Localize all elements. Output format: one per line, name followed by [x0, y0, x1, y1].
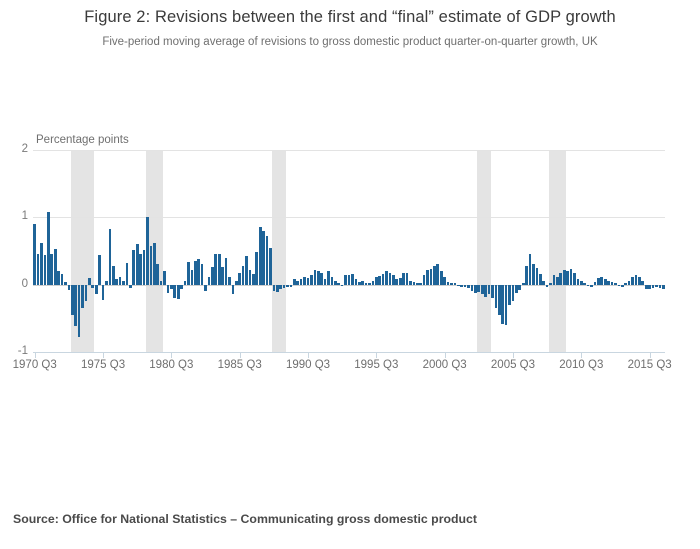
chart-subtitle: Five-period moving average of revisions … [0, 36, 700, 48]
bar [406, 273, 409, 284]
bar [525, 266, 528, 285]
bar [293, 279, 296, 284]
bar [512, 285, 515, 301]
bar [645, 285, 648, 289]
source-note: Source: Office for National Statistics –… [13, 512, 477, 526]
bar [365, 283, 368, 285]
bar [611, 282, 614, 285]
bar [491, 285, 494, 298]
x-axis-tick-mark [240, 352, 241, 358]
bar [37, 254, 40, 284]
bar [337, 283, 340, 285]
bar [539, 274, 542, 285]
bar [536, 268, 539, 285]
bar [594, 282, 597, 285]
bar [211, 267, 214, 285]
bar [546, 285, 549, 287]
bar [47, 212, 50, 285]
bar [85, 285, 88, 302]
bar [631, 277, 634, 284]
bar [389, 273, 392, 285]
bar [597, 278, 600, 285]
bar [618, 285, 621, 286]
x-axis-tick-label: 2010 Q3 [559, 359, 603, 371]
figure-container: Figure 2: Revisions between the first an… [0, 0, 700, 549]
bar [156, 264, 159, 284]
chart-plot-area [33, 150, 665, 352]
bar [279, 285, 282, 289]
bar [235, 281, 238, 285]
bar [587, 285, 590, 286]
bar [498, 285, 501, 315]
bar [392, 275, 395, 285]
bar [300, 279, 303, 285]
bar [471, 285, 474, 291]
bar [88, 278, 91, 285]
bar [61, 274, 64, 285]
x-axis-tick-mark [445, 352, 446, 358]
bar [115, 279, 118, 284]
bar [600, 277, 603, 285]
recession-band-5 [549, 150, 566, 352]
bar [262, 231, 265, 285]
bar [78, 285, 81, 338]
bar [607, 281, 610, 285]
gridline-1 [33, 217, 665, 218]
bar [553, 275, 556, 284]
bar [273, 285, 276, 292]
gridline--1 [33, 352, 665, 353]
bar [580, 281, 583, 284]
bar [477, 285, 480, 292]
y-axis-tick-label: 2 [4, 144, 28, 156]
bar [105, 281, 108, 284]
x-axis-tick-mark [35, 352, 36, 358]
y-axis-unit-label: Percentage points [36, 134, 129, 146]
bar [160, 281, 163, 284]
bar [91, 285, 94, 288]
bar [269, 248, 272, 285]
bar [68, 285, 71, 290]
bar [495, 285, 498, 309]
bar [361, 281, 364, 284]
bar [416, 283, 419, 285]
bar [143, 250, 146, 285]
bar [324, 279, 327, 285]
bar [372, 281, 375, 284]
bar [573, 273, 576, 285]
bar [173, 285, 176, 298]
bar [351, 274, 354, 285]
bar [382, 274, 385, 285]
bar [191, 270, 194, 285]
bar [508, 285, 511, 305]
bar [385, 271, 388, 284]
bar [187, 262, 190, 285]
bar [450, 283, 453, 284]
bar [467, 285, 470, 288]
bar [201, 264, 204, 284]
bar [341, 285, 344, 286]
bar [249, 270, 252, 285]
x-axis-tick-label: 1990 Q3 [286, 359, 330, 371]
bar [413, 282, 416, 285]
bar [259, 227, 262, 284]
bar [522, 283, 525, 284]
bar [652, 285, 655, 288]
x-axis-tick-mark [171, 352, 172, 358]
bar [44, 255, 47, 285]
bar [290, 285, 293, 287]
bar [50, 254, 53, 284]
bar [515, 285, 518, 293]
bar [276, 285, 279, 292]
x-axis-tick-mark [581, 352, 582, 358]
bar [556, 277, 559, 285]
gridline-0 [33, 285, 665, 286]
bar [122, 281, 125, 284]
bar [112, 266, 115, 284]
bar [430, 269, 433, 285]
x-axis-tick-label: 2000 Q3 [423, 359, 467, 371]
bar [232, 285, 235, 294]
bar [433, 266, 436, 285]
bar [184, 281, 187, 285]
bar [255, 252, 258, 284]
bar [426, 270, 429, 285]
bar [74, 285, 77, 327]
x-axis-tick-mark [308, 352, 309, 358]
bar [399, 278, 402, 285]
bar [266, 236, 269, 284]
bar [208, 277, 211, 285]
bar [252, 274, 255, 285]
x-axis-tick-mark [103, 352, 104, 358]
recession-band-4 [477, 150, 491, 352]
bar [423, 275, 426, 284]
bar [286, 285, 289, 288]
bar [563, 270, 566, 285]
bar [153, 243, 156, 285]
bar [109, 229, 112, 285]
bar [71, 285, 74, 315]
bar [440, 271, 443, 284]
bar [570, 269, 573, 285]
bar [549, 283, 552, 284]
x-axis-tick-label: 1970 Q3 [13, 359, 57, 371]
x-axis-tick-mark [650, 352, 651, 358]
bar [228, 277, 231, 285]
bar [655, 285, 658, 288]
bar [375, 277, 378, 285]
bar [310, 275, 313, 285]
bar [204, 285, 207, 292]
bar [532, 264, 535, 284]
bar [474, 285, 477, 293]
x-axis-tick-label: 2005 Q3 [491, 359, 535, 371]
bar [64, 282, 67, 285]
bar [368, 283, 371, 284]
bar [355, 279, 358, 284]
bar [624, 283, 627, 284]
bar [501, 285, 504, 324]
bar [662, 285, 665, 289]
x-axis-tick-label: 1980 Q3 [149, 359, 193, 371]
bar [577, 279, 580, 285]
bar [225, 258, 228, 285]
x-axis-tick-mark [376, 352, 377, 358]
bar [590, 285, 593, 287]
bar [40, 243, 43, 285]
bar [583, 283, 586, 284]
bar [54, 249, 57, 285]
bar [447, 282, 450, 285]
page-title: Figure 2: Revisions between the first an… [0, 8, 700, 27]
bar [327, 271, 330, 284]
bar [436, 264, 439, 284]
bar [628, 281, 631, 285]
bar [464, 285, 467, 287]
bar [419, 283, 422, 284]
recession-band-3 [272, 150, 286, 352]
bar [303, 277, 306, 285]
bar [129, 285, 132, 288]
bar [460, 285, 463, 288]
gridline-2 [33, 150, 665, 151]
bar [102, 285, 105, 300]
bar [170, 285, 173, 289]
bar [505, 285, 508, 325]
bar [320, 273, 323, 284]
bar [296, 281, 299, 285]
bar [457, 285, 460, 286]
bar [139, 254, 142, 284]
bar [542, 281, 545, 284]
bar [177, 285, 180, 300]
bar [454, 283, 457, 285]
bar [659, 285, 662, 288]
bar [180, 285, 183, 289]
bar [307, 278, 310, 285]
bar [197, 259, 200, 285]
bar [146, 217, 149, 284]
bar [358, 282, 361, 285]
bar [136, 244, 139, 284]
bar [402, 273, 405, 285]
bar [566, 271, 569, 284]
bar [641, 281, 644, 284]
bar [559, 273, 562, 285]
x-axis-tick-mark [513, 352, 514, 358]
bar [334, 281, 337, 285]
bar [132, 250, 135, 285]
bar [163, 271, 166, 284]
x-axis-tick-label: 2015 Q3 [628, 359, 672, 371]
bar [621, 285, 624, 288]
bar [98, 255, 101, 285]
bar [348, 275, 351, 285]
bar [57, 271, 60, 284]
bar [614, 283, 617, 285]
bar [126, 263, 129, 285]
bar [119, 277, 122, 285]
bar [242, 266, 245, 285]
bar [378, 276, 381, 285]
bar [167, 285, 170, 293]
bar [194, 261, 197, 285]
bar [81, 285, 84, 308]
bar [635, 275, 638, 284]
bar [344, 275, 347, 284]
bar [604, 279, 607, 284]
bar [150, 246, 153, 285]
x-axis-tick-label: 1985 Q3 [218, 359, 262, 371]
bar [648, 285, 651, 290]
bar [33, 224, 36, 285]
bar [331, 277, 334, 285]
bar [317, 271, 320, 284]
bar [518, 285, 521, 290]
bar [395, 279, 398, 284]
bar [638, 277, 641, 285]
bar [214, 254, 217, 284]
bar [245, 256, 248, 284]
y-axis-tick-label: -1 [4, 346, 28, 358]
bar [481, 285, 484, 294]
bar [484, 285, 487, 297]
bar [283, 285, 286, 288]
bar [238, 273, 241, 285]
bar [218, 254, 221, 285]
bar [221, 267, 224, 285]
bar [443, 277, 446, 285]
bar [409, 281, 412, 284]
x-axis-tick-label: 1975 Q3 [81, 359, 125, 371]
bar [95, 285, 98, 294]
x-axis-tick-label: 1995 Q3 [354, 359, 398, 371]
y-axis-tick-label: 0 [4, 279, 28, 291]
bar [529, 254, 532, 284]
bar [314, 270, 317, 285]
y-axis-tick-label: 1 [4, 211, 28, 223]
bar [488, 285, 491, 294]
